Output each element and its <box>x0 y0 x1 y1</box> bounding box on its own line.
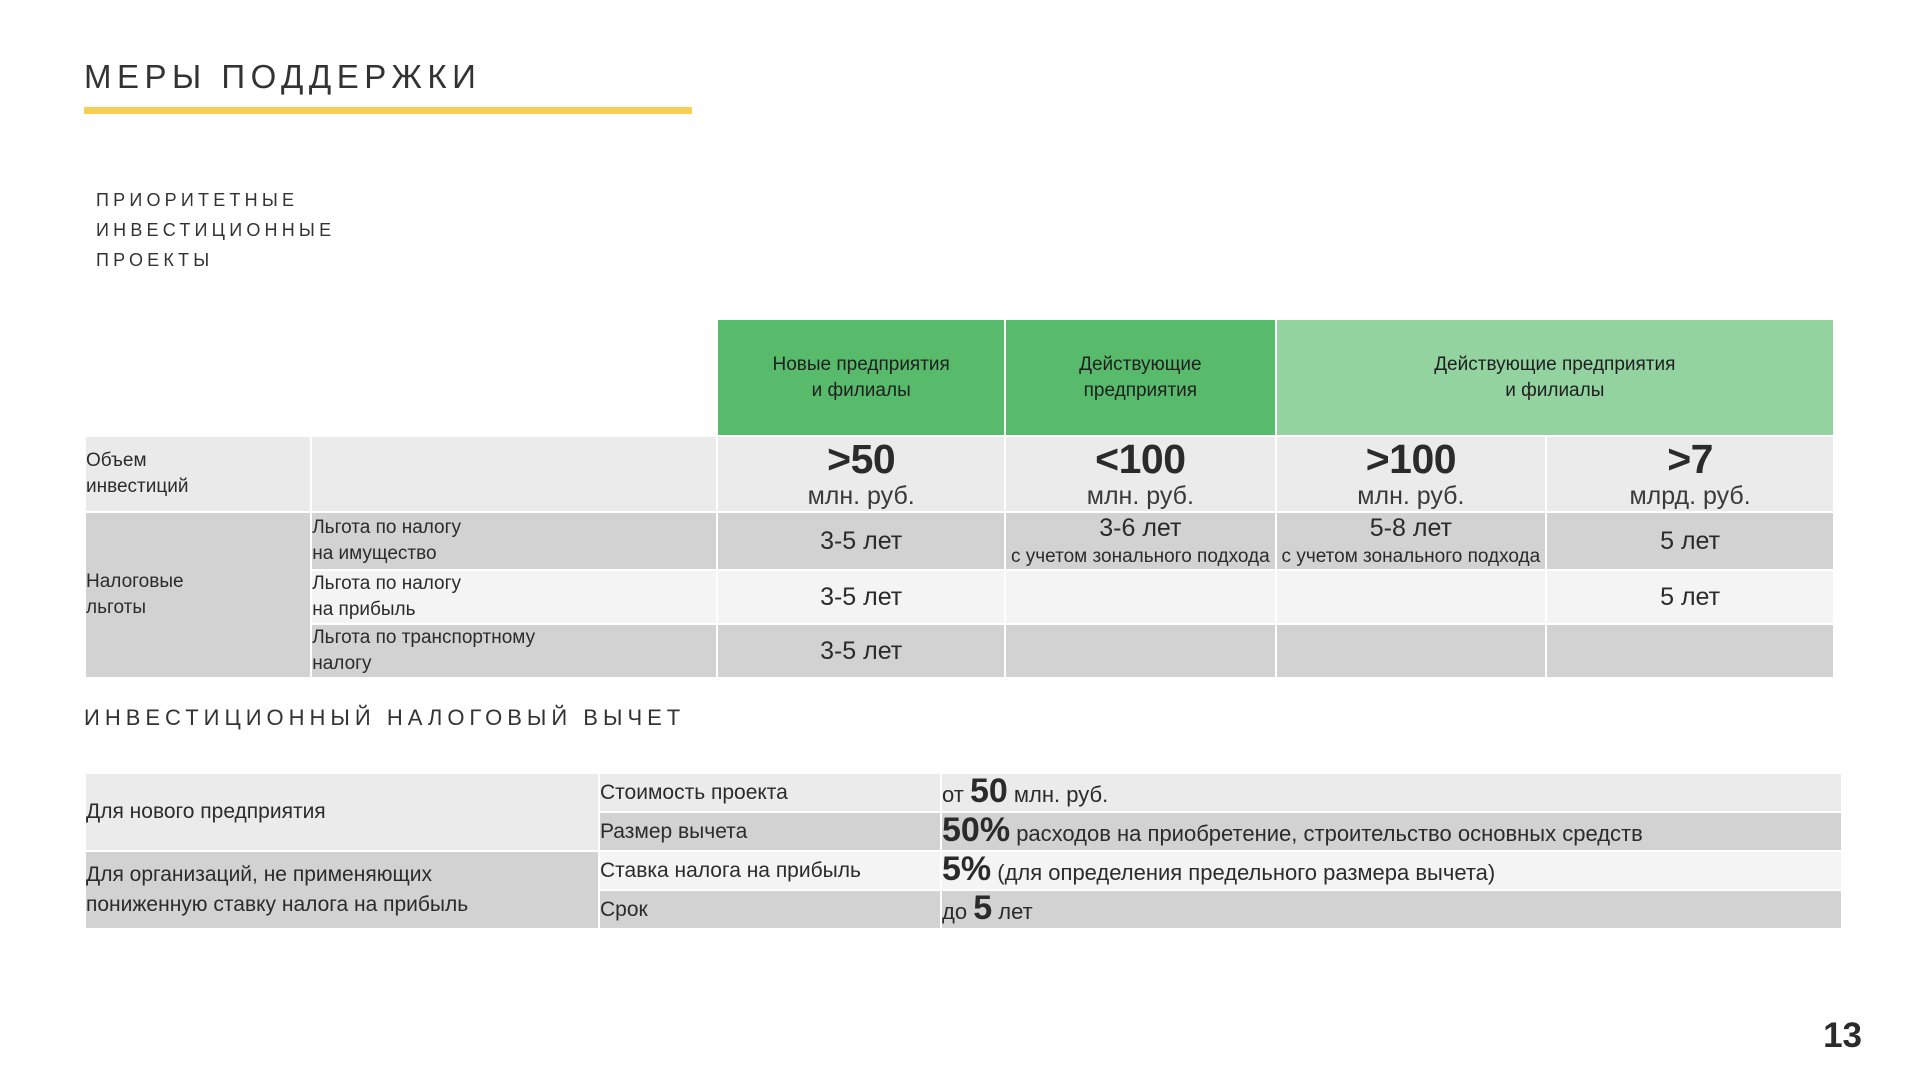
row-group-label-tax-benefits: Налоговые льготы <box>86 513 310 677</box>
cell-property-tax-existing-branches-a: 5-8 лет с учетом зонального подхода <box>1277 513 1546 569</box>
value-suffix: (для определения предельного размера выч… <box>997 860 1495 885</box>
value-number: 50 <box>970 772 1008 810</box>
cell-property-tax-new: 3-5 лет <box>718 513 1004 569</box>
column-header-line-2: предприятия <box>1006 378 1275 404</box>
row-sublabel-line-1: Льгота по налогу <box>312 515 716 541</box>
title-underline-rule <box>84 107 692 114</box>
table-row-project-cost: Для нового предприятия Стоимость проекта… <box>86 774 1841 811</box>
group-label-line-2: пониженную ставку налога на прибыль <box>86 890 598 920</box>
cell-value: 5 лет <box>1547 582 1833 613</box>
cell-investment-volume-existing-branches-b: >7 млрд. руб. <box>1547 437 1833 511</box>
cell-unit: млн. руб. <box>1277 482 1546 511</box>
key-term: Срок <box>600 891 940 928</box>
group-label-reduced-rate-organizations: Для организаций, не применяющих пониженн… <box>86 852 598 928</box>
cell-profit-tax-existing <box>1006 571 1275 623</box>
row-label-line-1: Объем <box>86 448 310 474</box>
row-sublabel-property-tax: Льгота по налогу на имущество <box>312 513 716 569</box>
value-suffix: млн. руб. <box>1014 782 1108 807</box>
cell-value: 3-6 лет <box>1006 513 1275 544</box>
value-number: 5% <box>942 850 991 888</box>
cell-investment-volume-existing-branches-a: >100 млн. руб. <box>1277 437 1546 511</box>
row-label-line-1: Налоговые <box>86 569 310 595</box>
row-sublabel-line-2: на имущество <box>312 541 716 567</box>
cell-transport-tax-existing <box>1006 625 1275 677</box>
row-sublabel-profit-tax: Льгота по налогу на прибыль <box>312 571 716 623</box>
group-label-line-1: Для организаций, не применяющих <box>86 860 598 890</box>
cell-profit-tax-existing-branches-b: 5 лет <box>1547 571 1833 623</box>
header-spacer-left <box>86 320 310 435</box>
row-sublabel-line-2: налогу <box>312 651 716 677</box>
row-label-line-2: льготы <box>86 595 310 621</box>
table-row-transport-tax-benefit: Льгота по транспортному налогу 3-5 лет <box>86 625 1833 677</box>
column-header-line-2: и филиалы <box>1277 378 1833 404</box>
value-number: 50% <box>942 811 1010 849</box>
value-suffix: расходов на приобретение, строительство … <box>1016 821 1643 846</box>
cell-value: >100 <box>1277 437 1546 482</box>
cell-note: с учетом зонального подхода <box>1277 544 1546 569</box>
value-prefix: до <box>942 899 967 924</box>
column-header-new-enterprises: Новые предприятия и филиалы <box>718 320 1004 435</box>
table-header-row: Новые предприятия и филиалы Действующие … <box>86 320 1833 435</box>
cell-value: 5-8 лет <box>1277 513 1546 544</box>
cell-investment-volume-existing: <100 млн. руб. <box>1006 437 1275 511</box>
cell-value: 3-5 лет <box>718 636 1004 667</box>
row-sublabel-line-1: Льгота по налогу <box>312 571 716 597</box>
cell-property-tax-existing-branches-b: 5 лет <box>1547 513 1833 569</box>
cell-value: 3-5 лет <box>718 526 1004 557</box>
cell-value: >50 <box>718 437 1004 482</box>
group-label-line-1: Для нового предприятия <box>86 797 598 827</box>
table-row-investment-volume: Объем инвестиций >50 млн. руб. <100 млн.… <box>86 437 1833 511</box>
column-header-existing-and-branches: Действующие предприятия и филиалы <box>1277 320 1833 435</box>
table-row-profit-tax-rate: Для организаций, не применяющих пониженн… <box>86 852 1841 889</box>
page-number: 13 <box>1823 1016 1862 1056</box>
upper-section-heading: ПРИОРИТЕТНЫЕ ИНВЕСТИЦИОННЫЕ ПРОЕКТЫ <box>96 185 335 275</box>
value-term: до 5 лет <box>942 891 1841 928</box>
column-header-existing-enterprises: Действующие предприятия <box>1006 320 1275 435</box>
value-number: 5 <box>973 889 992 927</box>
cell-transport-tax-new: 3-5 лет <box>718 625 1004 677</box>
cell-profit-tax-existing-branches-a <box>1277 571 1546 623</box>
cell-transport-tax-existing-branches-b <box>1547 625 1833 677</box>
cell-unit: млн. руб. <box>718 482 1004 511</box>
upper-heading-line-2: ИНВЕСТИЦИОННЫЕ <box>96 215 335 245</box>
group-label-new-enterprise: Для нового предприятия <box>86 774 598 850</box>
title-block: МЕРЫ ПОДДЕРЖКИ <box>84 58 692 114</box>
upper-heading-line-3: ПРОЕКТЫ <box>96 245 335 275</box>
value-deduction-amount: 50% расходов на приобретение, строительс… <box>942 813 1841 850</box>
row-group-label-investment-volume: Объем инвестиций <box>86 437 310 511</box>
slide-root: МЕРЫ ПОДДЕРЖКИ ПРИОРИТЕТНЫЕ ИНВЕСТИЦИОНН… <box>0 0 1920 1080</box>
value-suffix: лет <box>998 899 1032 924</box>
value-prefix: от <box>942 782 964 807</box>
cell-value: 5 лет <box>1547 526 1833 557</box>
investment-tax-deduction-table: Для нового предприятия Стоимость проекта… <box>84 772 1843 930</box>
upper-heading-line-1: ПРИОРИТЕТНЫЕ <box>96 185 335 215</box>
column-header-line-1: Действующие <box>1006 352 1275 378</box>
priority-projects-table: Новые предприятия и филиалы Действующие … <box>84 318 1835 679</box>
cell-profit-tax-new: 3-5 лет <box>718 571 1004 623</box>
row-sublabel-line-1: Льгота по транспортному <box>312 625 716 651</box>
row-sublabel-empty <box>312 437 716 511</box>
cell-unit: млрд. руб. <box>1547 482 1833 511</box>
lower-section-heading: ИНВЕСТИЦИОННЫЙ НАЛОГОВЫЙ ВЫЧЕТ <box>84 705 685 731</box>
key-profit-tax-rate: Ставка налога на прибыль <box>600 852 940 889</box>
value-project-cost: от 50 млн. руб. <box>942 774 1841 811</box>
row-sublabel-transport-tax: Льгота по транспортному налогу <box>312 625 716 677</box>
row-sublabel-line-2: на прибыль <box>312 597 716 623</box>
cell-value: 3-5 лет <box>718 582 1004 613</box>
column-header-line-1: Новые предприятия <box>718 352 1004 378</box>
row-label-line-2: инвестиций <box>86 474 310 500</box>
cell-investment-volume-new: >50 млн. руб. <box>718 437 1004 511</box>
page-title: МЕРЫ ПОДДЕРЖКИ <box>84 58 692 96</box>
cell-property-tax-existing: 3-6 лет с учетом зонального подхода <box>1006 513 1275 569</box>
key-project-cost: Стоимость проекта <box>600 774 940 811</box>
table-row-property-tax-benefit: Налоговые льготы Льгота по налогу на иму… <box>86 513 1833 569</box>
cell-value: >7 <box>1547 437 1833 482</box>
cell-transport-tax-existing-branches-a <box>1277 625 1546 677</box>
column-header-line-2: и филиалы <box>718 378 1004 404</box>
cell-unit: млн. руб. <box>1006 482 1275 511</box>
table-row-profit-tax-benefit: Льгота по налогу на прибыль 3-5 лет 5 ле… <box>86 571 1833 623</box>
key-deduction-amount: Размер вычета <box>600 813 940 850</box>
value-profit-tax-rate: 5% (для определения предельного размера … <box>942 852 1841 889</box>
cell-note: с учетом зонального подхода <box>1006 544 1275 569</box>
column-header-line-1: Действующие предприятия <box>1277 352 1833 378</box>
cell-value: <100 <box>1006 437 1275 482</box>
header-spacer-sub <box>312 320 716 435</box>
